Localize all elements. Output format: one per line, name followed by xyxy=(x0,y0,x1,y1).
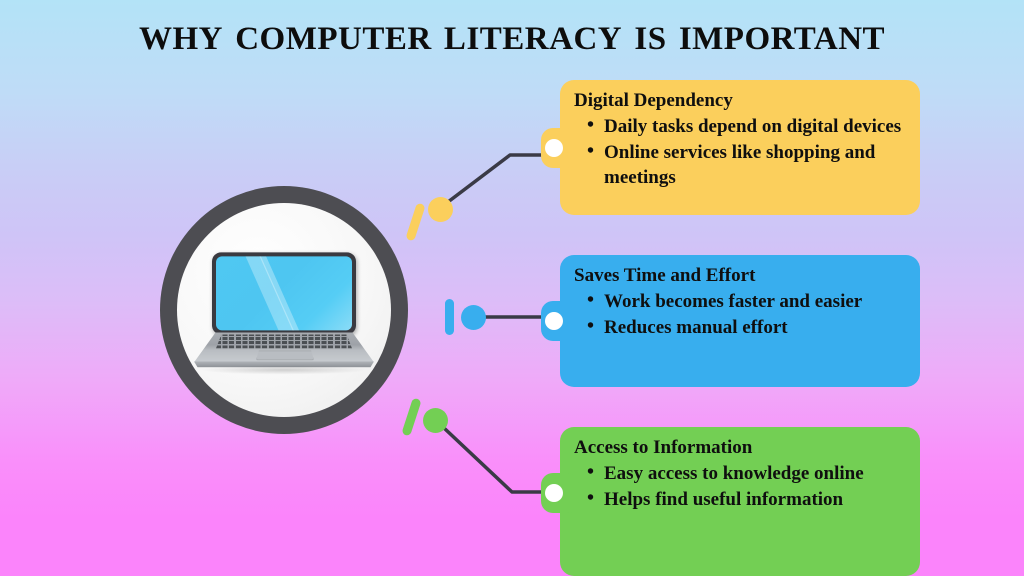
info-box-heading: Digital Dependency xyxy=(574,89,906,113)
info-box-bullet-list: Work becomes faster and easier Reduces m… xyxy=(574,289,906,340)
info-box-heading: Saves Time and Effort xyxy=(574,264,906,288)
info-box-bullet: Work becomes faster and easier xyxy=(574,289,906,314)
laptop-icon xyxy=(194,252,374,372)
box-notch-dot-yellow xyxy=(545,139,563,157)
info-box-bullet: Helps find useful information xyxy=(574,487,906,512)
page-title: Why Computer Literacy Is Important xyxy=(0,6,1024,62)
info-box-bullet-list: Daily tasks depend on digital devices On… xyxy=(574,114,906,190)
box-notch-dot-blue xyxy=(545,312,563,330)
accent-dot-yellow xyxy=(428,197,453,222)
laptop-illustration xyxy=(160,186,408,434)
info-box-bullet: Daily tasks depend on digital devices xyxy=(574,114,906,139)
laptop-lid xyxy=(212,252,356,334)
info-box-bullet: Online services like shopping and meetin… xyxy=(574,140,906,190)
accent-bar-blue xyxy=(445,299,454,335)
accent-dot-green xyxy=(423,408,448,433)
accent-dot-blue xyxy=(461,305,486,330)
laptop-screen xyxy=(216,256,352,330)
box-notch-dot-green xyxy=(545,484,563,502)
info-box-bullet-list: Easy access to knowledge online Helps fi… xyxy=(574,461,906,512)
laptop-trackpad xyxy=(256,350,314,360)
laptop-keys xyxy=(216,334,352,348)
info-box-digital-dependency[interactable]: Digital Dependency Daily tasks depend on… xyxy=(560,80,920,215)
info-box-bullet: Reduces manual effort xyxy=(574,315,906,340)
laptop-base xyxy=(194,332,374,370)
info-box-saves-time-and-effort[interactable]: Saves Time and Effort Work becomes faste… xyxy=(560,255,920,387)
info-box-heading: Access to Information xyxy=(574,436,906,460)
info-box-bullet: Easy access to knowledge online xyxy=(574,461,906,486)
info-box-access-to-information[interactable]: Access to Information Easy access to kno… xyxy=(560,427,920,576)
accent-slash-yellow xyxy=(405,203,425,242)
circle-inner-background xyxy=(177,203,391,417)
laptop-shadow xyxy=(202,365,366,374)
